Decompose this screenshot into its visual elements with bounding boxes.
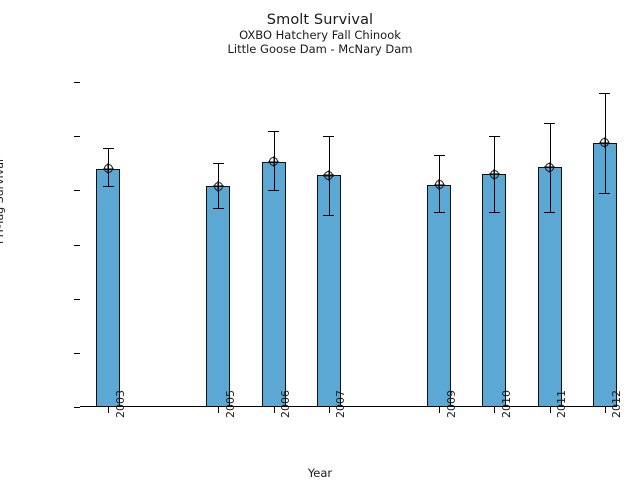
error-bar-cap-upper	[489, 136, 500, 137]
x-axis-tick-label: 2009	[445, 390, 458, 418]
bar	[206, 186, 230, 407]
error-bar-cap-lower	[434, 212, 445, 213]
x-axis-tick	[329, 407, 330, 413]
chart-title: Smolt Survival	[0, 12, 640, 29]
chart-subtitle-line-2: Little Goose Dam - McNary Dam	[0, 43, 640, 57]
data-point-marker	[214, 182, 223, 191]
error-bar-cap-lower	[213, 208, 224, 209]
chart-title-block: Smolt Survival OXBO Hatchery Fall Chinoo…	[0, 12, 640, 56]
error-bar-cap-upper	[544, 123, 555, 124]
x-axis-tick	[550, 407, 551, 413]
x-axis-tick-label: 2010	[500, 390, 513, 418]
data-point-marker	[545, 163, 554, 172]
x-axis-tick	[439, 407, 440, 413]
y-axis-label: PIT-Tag Survival	[0, 159, 6, 244]
bar	[96, 169, 120, 407]
error-bar-cap-upper	[103, 148, 114, 149]
error-bar-cap-lower	[544, 212, 555, 213]
chart-subtitle-line-1: OXBO Hatchery Fall Chinook	[0, 29, 640, 43]
bar	[427, 185, 451, 407]
x-axis-tick-label: 2011	[555, 390, 568, 418]
x-axis-tick	[108, 407, 109, 413]
x-axis-tick	[494, 407, 495, 413]
error-bar-cap-upper	[213, 163, 224, 164]
chart-figure: Smolt Survival OXBO Hatchery Fall Chinoo…	[0, 0, 640, 480]
plot-area	[80, 82, 612, 407]
x-axis-tick-label: 2005	[224, 390, 237, 418]
x-axis-tick-label: 2006	[279, 390, 292, 418]
x-axis-tick	[274, 407, 275, 413]
data-point-marker	[490, 170, 499, 179]
x-axis-tick-label: 2012	[610, 390, 623, 418]
x-axis-tick	[605, 407, 606, 413]
data-point-marker	[104, 164, 113, 173]
error-bar-cap-upper	[323, 136, 334, 137]
error-bar-cap-upper	[599, 93, 610, 94]
bar	[262, 162, 286, 407]
error-bar-cap-lower	[268, 190, 279, 191]
error-bar-cap-upper	[268, 131, 279, 132]
x-axis-label: Year	[0, 466, 640, 480]
x-axis-tick	[218, 407, 219, 413]
error-bar-cap-upper	[434, 155, 445, 156]
x-axis-tick-label: 2003	[114, 390, 127, 418]
error-bar-cap-lower	[323, 215, 334, 216]
error-bar-cap-lower	[489, 212, 500, 213]
error-bar-cap-lower	[599, 193, 610, 194]
error-bar-cap-lower	[103, 186, 114, 187]
x-axis-tick-label: 2007	[334, 390, 347, 418]
